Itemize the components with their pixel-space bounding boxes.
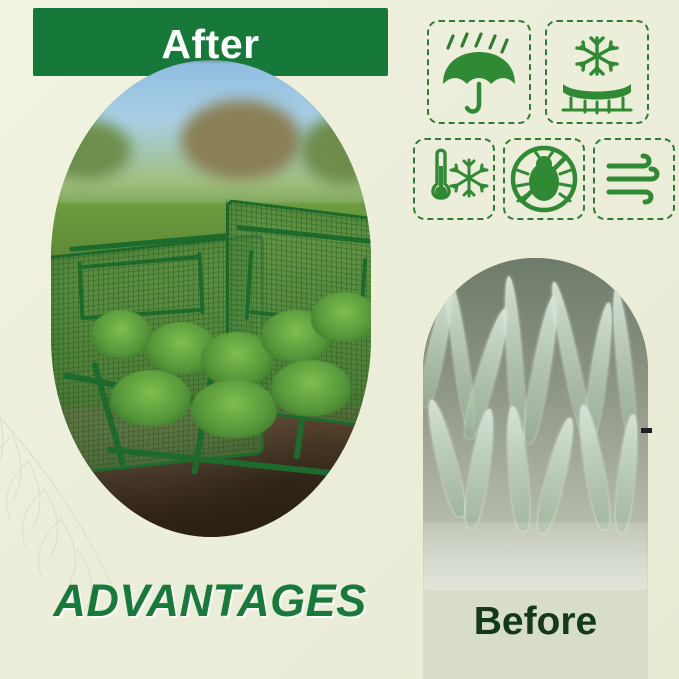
plant [111,370,191,426]
plant [271,360,351,416]
feature-icon-temperature-frost [413,138,495,220]
thermometer-snowflake-icon [415,140,493,218]
feature-icon-rain-protection [427,20,531,124]
no-bug-icon [505,140,583,218]
snowflake-over-cover-icon [547,22,647,122]
feature-icon-snow-load [545,20,649,124]
after-panel: After [33,8,388,553]
feature-icon-grid [405,8,655,248]
after-photo-tree [181,100,301,180]
dash-mark [641,428,652,433]
wind-lines-icon [595,140,673,218]
feature-icon-wind-proof [593,138,675,220]
umbrella-rain-icon [429,22,529,122]
feature-icon-pest-proof [503,138,585,220]
before-label: Before [423,600,648,644]
plant [191,380,277,438]
product-infographic: After [0,0,679,679]
plant [91,310,151,358]
plant [311,292,371,342]
after-photo [51,60,371,537]
advantages-title: ADVANTAGES [30,575,390,627]
